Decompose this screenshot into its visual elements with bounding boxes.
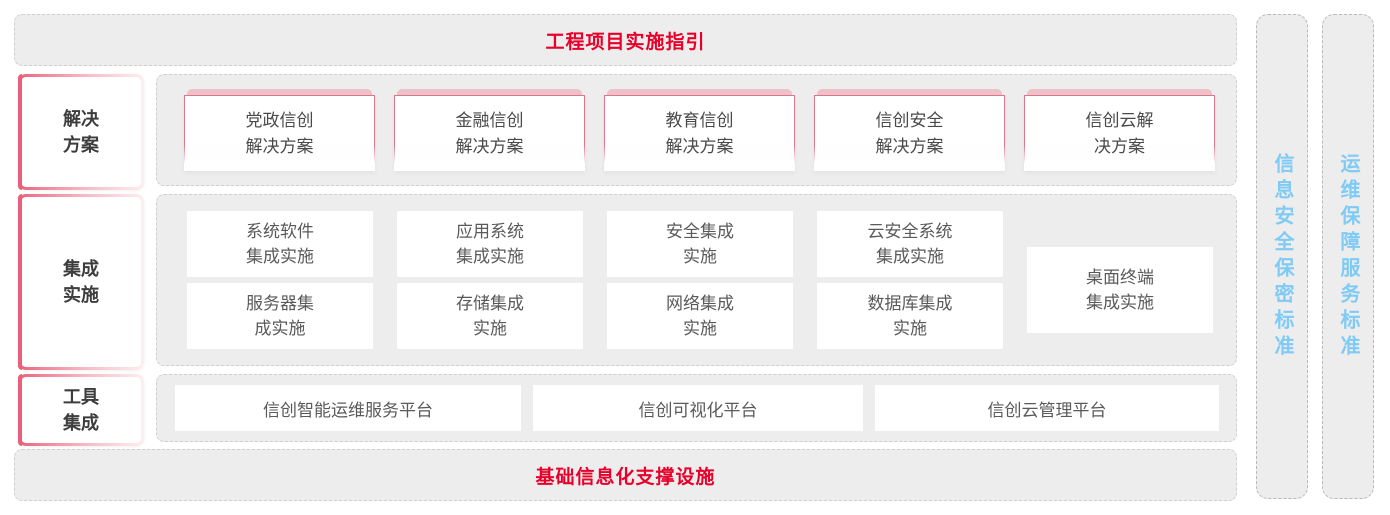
integration-card-r1c3[interactable]: 安全集成 实施 xyxy=(607,211,793,277)
integration-card-r2c3-line1: 网络集成 xyxy=(666,294,734,313)
row-label-tools[interactable]: 工具 集成 xyxy=(18,374,144,446)
standard-panel-operation-maintenance[interactable]: 运维保障服务标准 xyxy=(1322,14,1374,499)
tool-card-2[interactable]: 信创可视化平台 xyxy=(533,385,863,431)
integration-card-r1c1-line2: 集成实施 xyxy=(246,247,314,266)
integration-card-r1c4-line2: 集成实施 xyxy=(876,247,944,266)
bottom-banner-title: 基础信息化支撑设施 xyxy=(535,462,715,489)
solution-card-3-line1: 教育信创 xyxy=(666,111,734,130)
solution-card-2-body: 金融信创 解决方案 xyxy=(394,95,585,171)
solution-card-2[interactable]: 金融信创 解决方案 xyxy=(394,89,585,171)
row-label-tools-line1: 工具 xyxy=(63,384,99,410)
bottom-banner: 基础信息化支撑设施 xyxy=(14,449,1237,501)
diagram-root: 工程项目实施指引 解决 方案 党政信创 解决方案 金融信创 解决方案 xyxy=(0,0,1390,515)
solution-card-3-line2: 解决方案 xyxy=(666,137,734,156)
integration-card-r2c3[interactable]: 网络集成 实施 xyxy=(607,283,793,349)
integration-card-r1c1[interactable]: 系统软件 集成实施 xyxy=(187,211,373,277)
solution-card-1-body: 党政信创 解决方案 xyxy=(184,95,375,171)
solution-card-2-line2: 解决方案 xyxy=(456,137,524,156)
solution-card-1-line2: 解决方案 xyxy=(246,137,314,156)
row-label-solution-line2: 方案 xyxy=(63,132,99,158)
solution-card-5[interactable]: 信创云解 决方案 xyxy=(1024,89,1215,171)
row-label-solution[interactable]: 解决 方案 xyxy=(18,74,144,190)
solution-card-1[interactable]: 党政信创 解决方案 xyxy=(184,89,375,171)
integration-card-r1c1-line1: 系统软件 xyxy=(246,222,314,241)
integration-card-desktop-terminal[interactable]: 桌面终端 集成实施 xyxy=(1027,247,1213,333)
integration-card-r2c4-line1: 数据库集成 xyxy=(868,294,953,313)
integration-card-desktop-terminal-line2: 集成实施 xyxy=(1086,293,1154,312)
integration-card-r2c3-line2: 实施 xyxy=(683,319,717,338)
row-label-solution-line1: 解决 xyxy=(63,106,99,132)
row-label-tools-line2: 集成 xyxy=(63,410,99,436)
integration-card-r1c4-line1: 云安全系统 xyxy=(868,222,953,241)
integration-card-r2c2-line1: 存储集成 xyxy=(456,294,524,313)
row-label-integration-line1: 集成 xyxy=(63,256,99,282)
integration-card-desktop-terminal-line1: 桌面终端 xyxy=(1086,268,1154,287)
standard-panel-2-label: 运维保障服务标准 xyxy=(1338,153,1358,361)
standard-panel-1-label: 信息安全保密标准 xyxy=(1272,153,1292,361)
integration-card-r1c4[interactable]: 云安全系统 集成实施 xyxy=(817,211,1003,277)
integration-card-r1c2[interactable]: 应用系统 集成实施 xyxy=(397,211,583,277)
row-container-tools: 信创智能运维服务平台 信创可视化平台 信创云管理平台 xyxy=(156,374,1237,442)
integration-card-r1c3-line1: 安全集成 xyxy=(666,222,734,241)
solution-card-5-line1: 信创云解 xyxy=(1086,111,1154,130)
solution-card-4-line1: 信创安全 xyxy=(876,111,944,130)
standard-panel-information-security[interactable]: 信息安全保密标准 xyxy=(1256,14,1308,499)
row-container-solution: 党政信创 解决方案 金融信创 解决方案 教育信创 解决方案 xyxy=(156,74,1237,186)
integration-card-r2c2-line2: 实施 xyxy=(473,319,507,338)
tool-card-1[interactable]: 信创智能运维服务平台 xyxy=(175,385,521,431)
tool-card-3[interactable]: 信创云管理平台 xyxy=(875,385,1219,431)
row-label-integration[interactable]: 集成 实施 xyxy=(18,194,144,370)
solution-card-4-line2: 解决方案 xyxy=(876,137,944,156)
solution-card-5-body: 信创云解 决方案 xyxy=(1024,95,1215,171)
top-banner: 工程项目实施指引 xyxy=(14,14,1237,66)
integration-card-r1c2-line2: 集成实施 xyxy=(456,247,524,266)
solution-card-3-body: 教育信创 解决方案 xyxy=(604,95,795,171)
solution-card-1-line1: 党政信创 xyxy=(246,111,314,130)
integration-card-r2c1-line2: 成实施 xyxy=(255,319,306,338)
integration-card-r1c3-line2: 实施 xyxy=(683,247,717,266)
solution-card-4[interactable]: 信创安全 解决方案 xyxy=(814,89,1005,171)
integration-card-r2c1-line1: 服务器集 xyxy=(246,294,314,313)
solution-card-4-body: 信创安全 解决方案 xyxy=(814,95,1005,171)
integration-card-r1c2-line1: 应用系统 xyxy=(456,222,524,241)
top-banner-title: 工程项目实施指引 xyxy=(545,27,705,54)
integration-card-r2c2[interactable]: 存储集成 实施 xyxy=(397,283,583,349)
integration-card-r2c1[interactable]: 服务器集 成实施 xyxy=(187,283,373,349)
solution-card-3[interactable]: 教育信创 解决方案 xyxy=(604,89,795,171)
solution-card-5-line2: 决方案 xyxy=(1094,137,1145,156)
solution-card-2-line1: 金融信创 xyxy=(456,111,524,130)
row-container-integration: 系统软件 集成实施 应用系统 集成实施 安全集成 实施 云安全系统 集成实施 xyxy=(156,194,1237,366)
row-label-integration-line2: 实施 xyxy=(63,282,99,308)
integration-card-r2c4[interactable]: 数据库集成 实施 xyxy=(817,283,1003,349)
integration-card-r2c4-line2: 实施 xyxy=(893,319,927,338)
